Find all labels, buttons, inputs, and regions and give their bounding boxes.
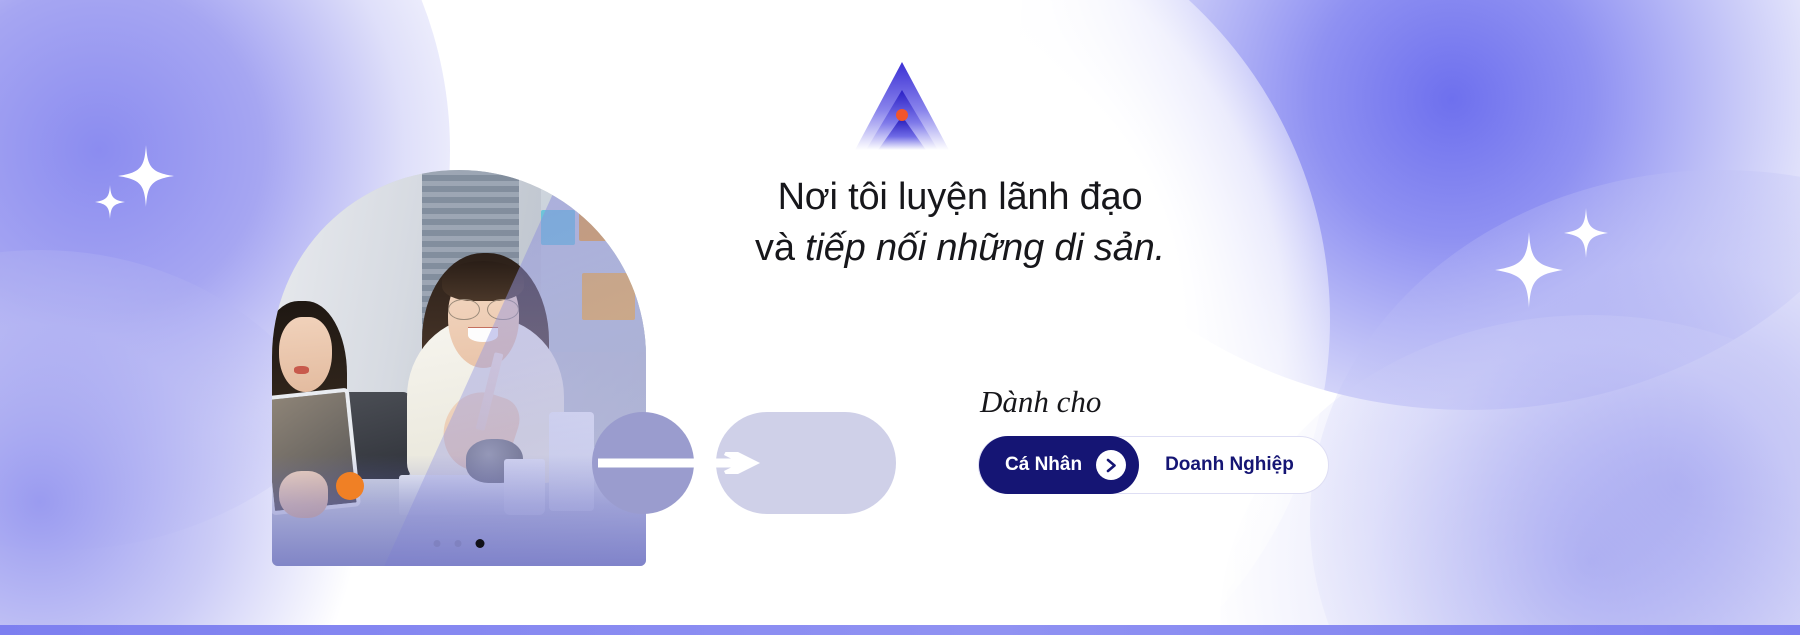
photo-bottom-overlay (272, 455, 646, 566)
headline-line-2: và tiếp nối những di sản. (610, 223, 1310, 274)
sparkle-icon (118, 145, 174, 207)
chevron-right-icon (1096, 450, 1126, 480)
cta-label: Dành cho (978, 385, 1398, 419)
sparkle-icon (1495, 232, 1563, 308)
headline-line-2-prefix: và (755, 227, 805, 269)
sparkle-icon (95, 185, 125, 219)
bottom-accent-bar (0, 625, 1800, 635)
hero-photo (272, 170, 646, 566)
cta-block: Dành cho Cá Nhân Doanh Nghiệp (978, 385, 1398, 494)
audience-toggle[interactable]: Cá Nhân Doanh Nghiệp (978, 436, 1329, 494)
carousel-dot-2[interactable] (455, 540, 462, 547)
hero-banner: Nơi tôi luyện lãnh đạo và tiếp nối những… (0, 0, 1800, 635)
photo-person-left-face (279, 317, 331, 392)
carousel-dot-1[interactable] (434, 540, 441, 547)
carousel-dots[interactable] (434, 539, 485, 548)
headline-line-2-italic: tiếp nối những di sản. (805, 227, 1165, 269)
decorative-circle (592, 412, 694, 514)
page-title: Nơi tôi luyện lãnh đạo và tiếp nối những… (610, 172, 1310, 273)
headline-line-1: Nơi tôi luyện lãnh đạo (778, 176, 1143, 218)
toggle-option-business[interactable]: Doanh Nghiệp (1139, 454, 1304, 476)
photo-scene (272, 170, 646, 566)
toggle-option-individual-label: Cá Nhân (1005, 454, 1082, 476)
decorative-pill (716, 412, 896, 514)
carousel-dot-3[interactable] (476, 539, 485, 548)
photo-person-left-lips (294, 366, 309, 374)
triangle-logo-icon (854, 60, 950, 152)
orange-accent-dot (336, 472, 364, 500)
sparkle-icon (1564, 208, 1608, 258)
toggle-option-individual[interactable]: Cá Nhân (979, 436, 1139, 494)
